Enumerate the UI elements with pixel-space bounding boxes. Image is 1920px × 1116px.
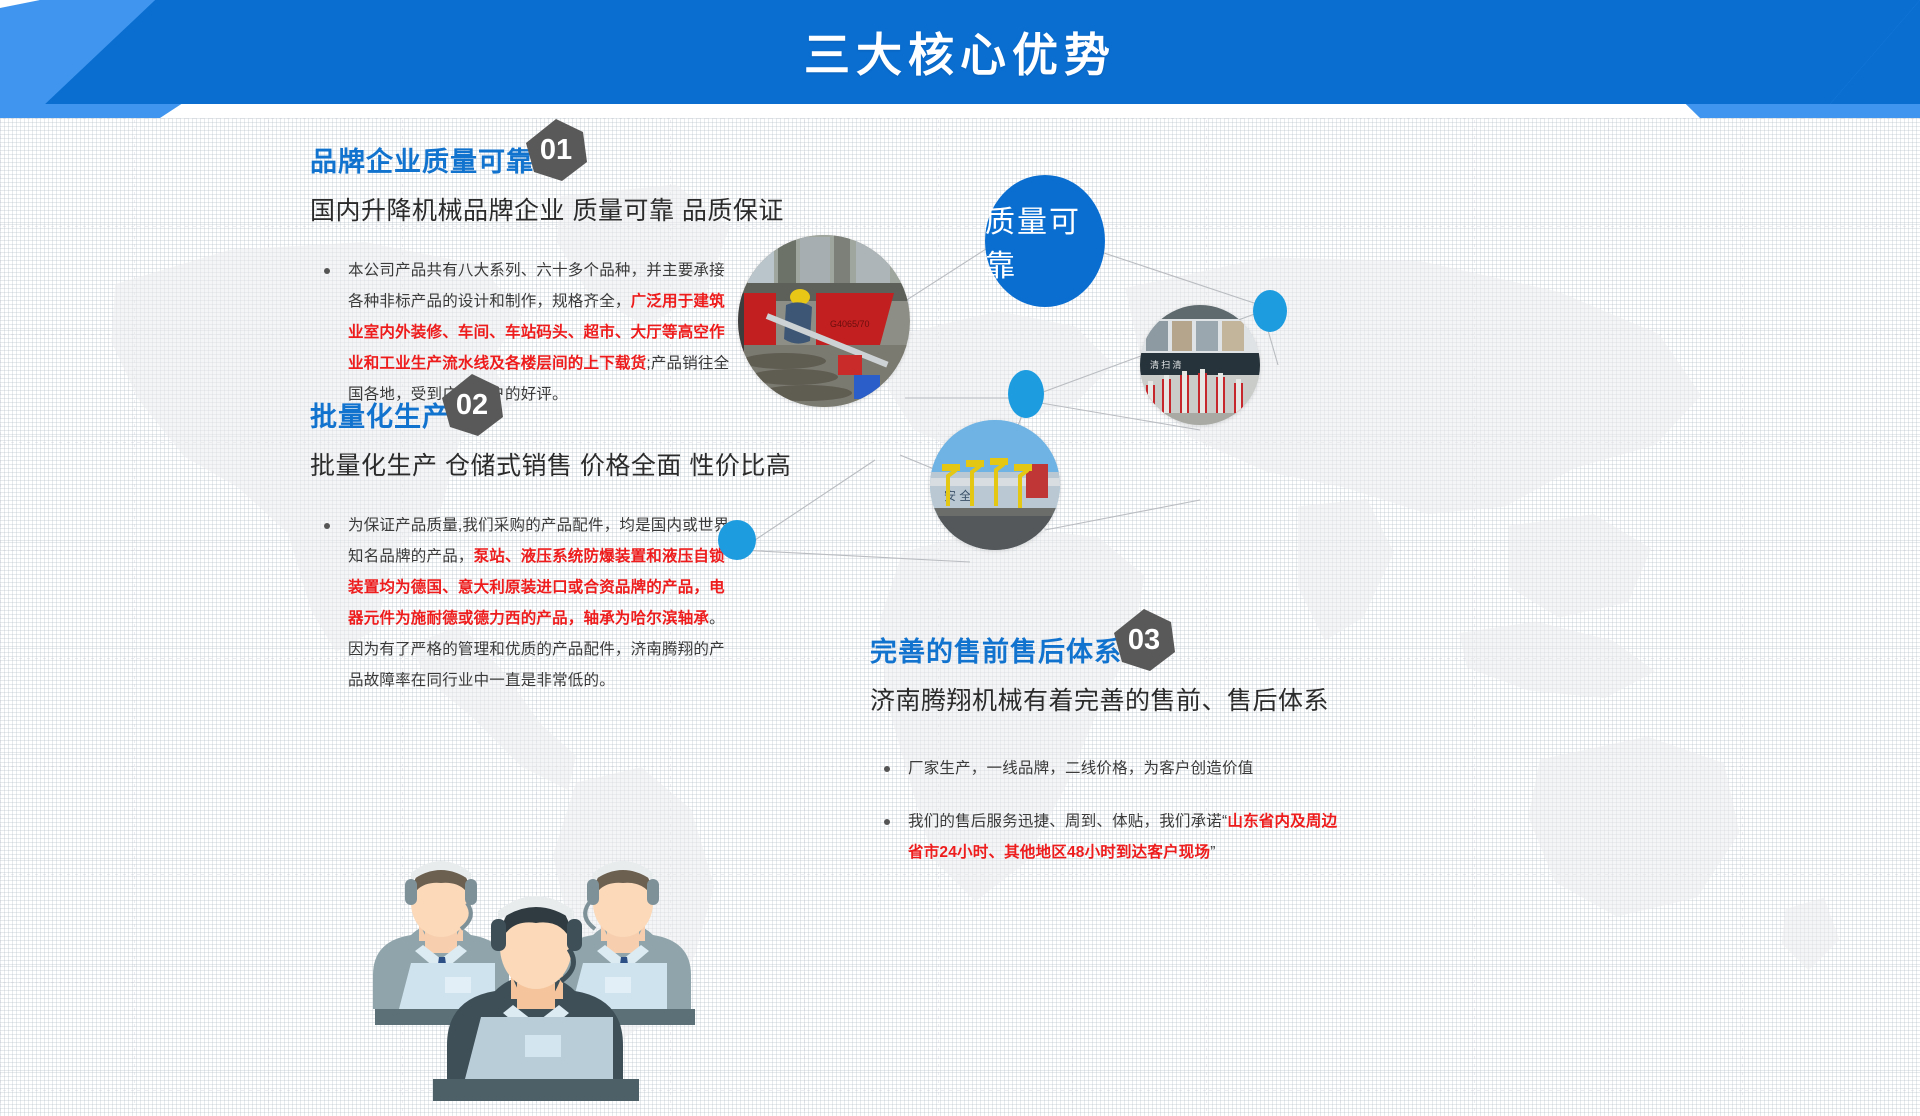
section-02-bullet-list: 为保证产品质量,我们采购的产品配件，均是国内或世界知名品牌的产品，泵站、液压系统… [310, 510, 740, 696]
section-02-header: 批量化生产 02 [310, 403, 740, 437]
plain-text: 我们的售后服务迅捷、周到、体贴，我们承诺“ [908, 813, 1227, 830]
photo-art: 安 全 [930, 420, 1060, 550]
section-02-number: 02 [456, 391, 488, 420]
list-item: 为保证产品质量,我们采购的产品配件，均是国内或世界知名品牌的产品，泵站、液压系统… [310, 510, 740, 696]
section-02-title: 批量化生产 [310, 403, 450, 433]
photo-art: G4065/70 [738, 235, 910, 407]
list-item: 本公司产品共有八大系列、六十多个品种，并主要承接各种非标产品的设计和制作，规格齐… [310, 255, 740, 410]
photo-art: 清 扫 清 [1140, 305, 1260, 425]
bullet-text: 厂家生产，一线品牌，二线价格，为客户创造价值 [908, 760, 1253, 777]
yellow-boom-lifts-photo: 安 全 [930, 420, 1060, 550]
lift-platform-storefront-photo: 清 扫 清 [1140, 305, 1260, 425]
section-01-number: 01 [540, 136, 572, 165]
section-03-bullet-list: 厂家生产，一线品牌，二线价格，为客户创造价值 我们的售后服务迅捷、周到、体贴，我… [870, 753, 1340, 868]
call-center-agents-illustration [355, 795, 715, 1105]
advantage-block-02: 批量化生产 02 批量化生产 仓储式销售 价格全面 性价比高 为保证产品质量,我… [310, 403, 740, 718]
section-01-header: 品牌企业质量可靠 01 [310, 148, 740, 182]
advantage-block-01: 品牌企业质量可靠 01 国内升降机械品牌企业 质量可靠 品质保证 本公司产品共有… [310, 148, 740, 432]
bullet-text: 我们的售后服务迅捷、周到、体贴，我们承诺“山东省内及周边省市24小时、其他地区4… [908, 813, 1337, 861]
section-02-number-badge: 02 [440, 373, 504, 437]
hub-quality-reliable: 质量可靠 [985, 175, 1105, 307]
node-top-right [1253, 290, 1287, 332]
bullet-text: 本公司产品共有八大系列、六十多个品种，并主要承接各种非标产品的设计和制作，规格齐… [348, 262, 729, 403]
bullet-text: 为保证产品质量,我们采购的产品配件，均是国内或世界知名品牌的产品，泵站、液压系统… [348, 517, 729, 689]
svg-text:清 扫 清: 清 扫 清 [1150, 359, 1182, 370]
svg-text:G4065/70: G4065/70 [830, 319, 870, 329]
section-01-number-badge: 01 [524, 118, 588, 182]
section-03-subtitle: 济南腾翔机械有着完善的售前、售后体系 [870, 681, 1340, 717]
advantage-block-03: 完善的售前售后体系 03 济南腾翔机械有着完善的售前、售后体系 厂家生产，一线品… [870, 638, 1340, 890]
list-item: 我们的售后服务迅捷、周到、体贴，我们承诺“山东省内及周边省市24小时、其他地区4… [870, 806, 1340, 868]
section-01-bullet-list: 本公司产品共有八大系列、六十多个品种，并主要承接各种非标产品的设计和制作，规格齐… [310, 255, 740, 410]
node-left [718, 520, 756, 560]
section-02-subtitle: 批量化生产 仓储式销售 价格全面 性价比高 [310, 446, 740, 482]
quality-network-diagram: 质量可靠 G4065/70 [700, 130, 1340, 650]
page-title: 三大核心优势 [0, 0, 1920, 104]
hub-label: 质量可靠 [985, 197, 1105, 285]
factory-cutting-machine-photo: G4065/70 [738, 235, 910, 407]
plain-text: 厂家生产，一线品牌，二线价格，为客户创造价值 [908, 760, 1253, 777]
plain-text: ” [1210, 844, 1215, 861]
node-center [1008, 370, 1044, 418]
list-item: 厂家生产，一线品牌，二线价格，为客户创造价值 [870, 753, 1340, 784]
section-01-title: 品牌企业质量可靠 [310, 148, 534, 178]
section-01-subtitle: 国内升降机械品牌企业 质量可靠 品质保证 [310, 191, 740, 227]
